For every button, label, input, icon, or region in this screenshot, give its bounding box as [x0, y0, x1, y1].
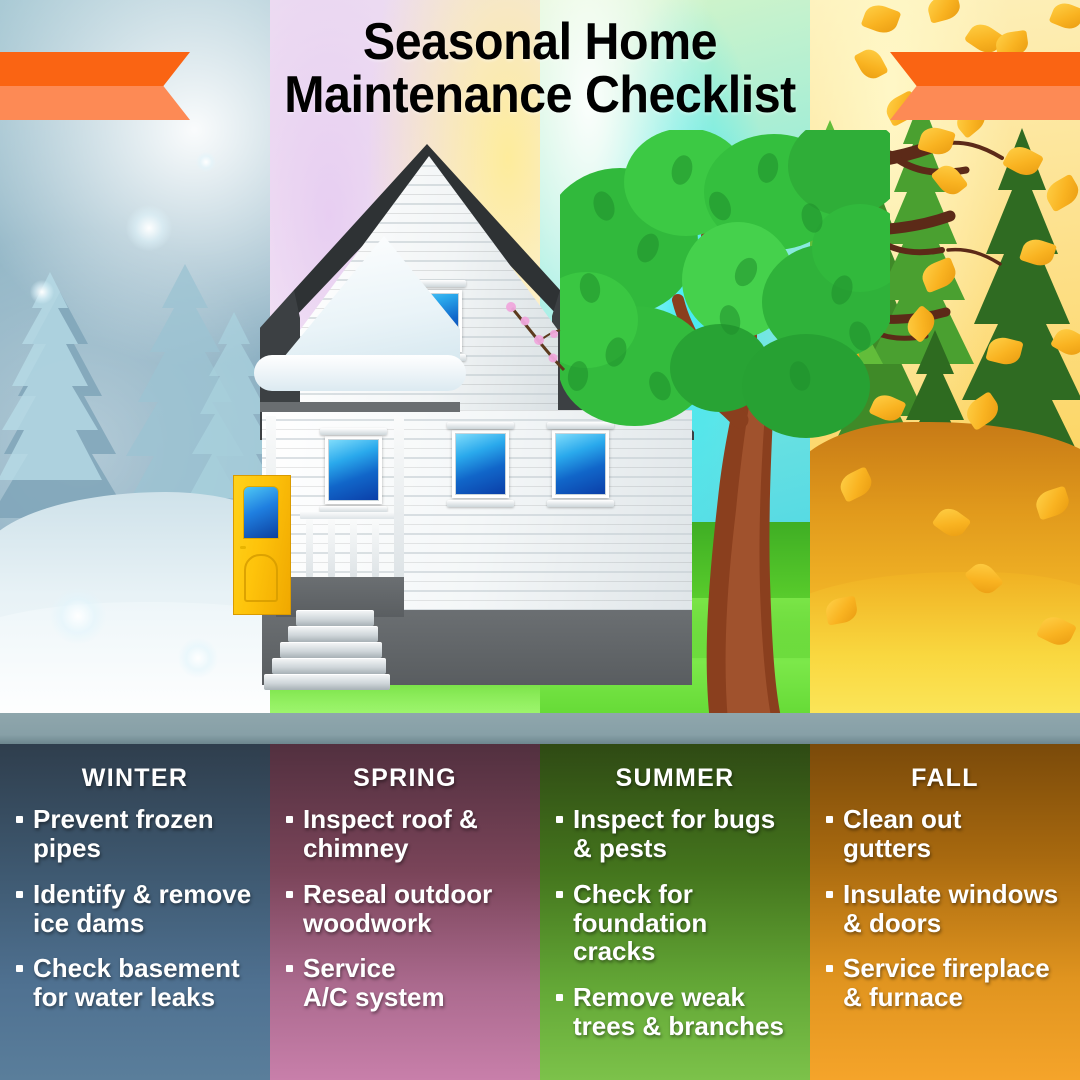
- step: [280, 642, 382, 658]
- snowflake-glow: [178, 638, 218, 678]
- porch-baluster: [350, 519, 357, 577]
- front-door[interactable]: [233, 475, 291, 615]
- porch-beam: [260, 402, 460, 412]
- checklist-spring: •Inspect roof & chimney •Reseal outdoor …: [284, 805, 526, 1012]
- snow-drift-front: [0, 602, 270, 722]
- bullet-icon: •: [16, 965, 23, 972]
- porch-baluster: [372, 519, 379, 577]
- step: [296, 610, 374, 626]
- window-trim-top: [320, 428, 387, 435]
- list-item: •Clean out gutters: [824, 805, 1066, 863]
- step: [264, 674, 390, 690]
- summer-tree: [560, 130, 890, 722]
- porch-post: [394, 416, 404, 578]
- checklist-summer: •Inspect for bugs & pests •Check for fou…: [554, 805, 796, 1041]
- bullet-icon: •: [16, 891, 23, 898]
- bullet-icon: •: [16, 816, 23, 823]
- bullet-icon: •: [286, 891, 293, 898]
- porch-baluster: [306, 519, 313, 577]
- list-item: •Check for foundation cracks: [554, 880, 796, 967]
- panel-title-winter: WINTER: [14, 764, 256, 793]
- list-item: •Service fireplace & furnace: [824, 954, 1066, 1012]
- porch-rail-top: [300, 512, 400, 519]
- window-glass: [455, 433, 506, 495]
- pine-tree-silhouette: [0, 272, 110, 502]
- list-item: •Insulate windows & doors: [824, 880, 1066, 938]
- panel-spring: SPRING •Inspect roof & chimney •Reseal o…: [270, 744, 540, 1080]
- front-window: [325, 436, 382, 504]
- list-item: •Inspect roof & chimney: [284, 805, 526, 863]
- section-divider: [0, 713, 1080, 744]
- list-item: •Prevent frozen pipes: [14, 805, 256, 863]
- panel-summer: SUMMER •Inspect for bugs & pests •Check …: [540, 744, 810, 1080]
- door-glass: [243, 486, 279, 539]
- list-item: •Reseal outdoor woodwork: [284, 880, 526, 938]
- step: [288, 626, 378, 642]
- roof-snow-lip: [254, 355, 466, 391]
- door-panel: [244, 554, 278, 602]
- list-item: •Inspect for bugs & pests: [554, 805, 796, 863]
- bullet-icon: •: [556, 994, 563, 1001]
- bullet-icon: •: [286, 965, 293, 972]
- front-window: [452, 430, 509, 498]
- porch-baluster: [328, 519, 335, 577]
- panel-title-spring: SPRING: [284, 764, 526, 793]
- window-trim-top: [447, 422, 514, 429]
- checklist-winter: •Prevent frozen pipes •Identify & remove…: [14, 805, 256, 1012]
- list-item: •Check basement for water leaks: [14, 954, 256, 1012]
- list-item: •Service A/C system: [284, 954, 526, 1012]
- window-sill: [447, 500, 514, 507]
- panel-fall: FALL •Clean out gutters •Insulate window…: [810, 744, 1080, 1080]
- step: [272, 658, 386, 674]
- front-steps: [274, 610, 394, 686]
- list-item: •Identify & remove ice dams: [14, 880, 256, 938]
- blossom-branch: [498, 288, 568, 374]
- bullet-icon: •: [556, 816, 563, 823]
- list-item: •Remove weak trees & branches: [554, 983, 796, 1041]
- panel-title-fall: FALL: [824, 764, 1066, 793]
- bullet-icon: •: [556, 891, 563, 898]
- snowflake-glow: [30, 280, 54, 304]
- bullet-icon: •: [826, 891, 833, 898]
- checklist-panels: WINTER •Prevent frozen pipes •Identify &…: [0, 744, 1080, 1080]
- snowflake-glow: [196, 152, 216, 172]
- snowflake-glow: [126, 205, 172, 251]
- snowflake-glow: [50, 588, 106, 644]
- panel-winter: WINTER •Prevent frozen pipes •Identify &…: [0, 744, 270, 1080]
- panel-title-summer: SUMMER: [554, 764, 796, 793]
- infographic-canvas: Seasonal Home Maintenance Checklist WINT…: [0, 0, 1080, 1080]
- window-glass: [328, 439, 379, 501]
- page-title: Seasonal Home Maintenance Checklist: [38, 16, 1042, 122]
- checklist-fall: •Clean out gutters •Insulate windows & d…: [824, 805, 1066, 1012]
- bullet-icon: •: [826, 965, 833, 972]
- bullet-icon: •: [286, 816, 293, 823]
- door-handle[interactable]: [240, 546, 246, 549]
- bullet-icon: •: [826, 816, 833, 823]
